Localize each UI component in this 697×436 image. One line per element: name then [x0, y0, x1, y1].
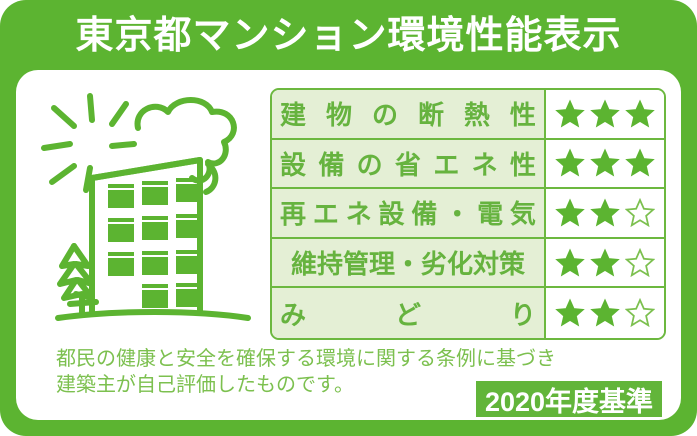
building-sun-cloud-tree-illustration [30, 82, 276, 344]
label-char: 設 [280, 145, 306, 182]
label-char: 再 [280, 194, 306, 231]
star-filled-icon [590, 198, 620, 228]
label-char: 建 [280, 95, 306, 132]
label-char: 電 [477, 194, 503, 231]
star-filled-icon [590, 148, 620, 178]
rating-label-insulation: 建 物 の 断 熱 性 [272, 90, 546, 138]
label-char: 省 [395, 145, 421, 182]
table-row: 設 備 の 省 エ ネ 性 [272, 140, 664, 190]
label-char: 断 [418, 95, 444, 132]
rating-stars-energy-saving [546, 140, 664, 188]
star-filled-icon [590, 248, 620, 278]
label-char: 設 [379, 194, 405, 231]
star-filled-icon [555, 198, 585, 228]
star-filled-icon [555, 248, 585, 278]
header-bar: 東京都マンション環境性能表示 [0, 0, 697, 72]
label-char: ・ [444, 194, 470, 231]
label-char: 気 [510, 194, 536, 231]
label-char: の [357, 145, 383, 182]
rating-stars-greenery [546, 288, 664, 338]
rating-label-energy-saving: 設 備 の 省 エ ネ 性 [272, 140, 546, 188]
label-char: ネ [346, 194, 372, 231]
star-outline-icon [625, 198, 655, 228]
ratings-table: 建 物 の 断 熱 性 設 備 の 省 [270, 88, 666, 340]
label-char: の [372, 95, 398, 132]
star-filled-icon [555, 99, 585, 129]
star-filled-icon [590, 298, 620, 328]
star-filled-icon [625, 148, 655, 178]
rating-stars-insulation [546, 90, 664, 138]
environmental-performance-label: 東京都マンション環境性能表示 [0, 0, 697, 436]
label-char: 物 [326, 95, 352, 132]
rating-stars-maintenance-durability [546, 239, 664, 287]
star-filled-icon [555, 298, 585, 328]
label-char: ネ [472, 145, 498, 182]
label-char: み [280, 295, 306, 332]
table-row: 建 物 の 断 熱 性 [272, 90, 664, 140]
star-outline-icon [625, 298, 655, 328]
label-char: ど [395, 295, 421, 332]
rating-label-renewable-energy: 再 エ ネ 設 備 ・ 電 気 [272, 189, 546, 237]
table-row: み ど り [272, 288, 664, 338]
label-char: エ [433, 145, 459, 182]
table-row: 再 エ ネ 設 備 ・ 電 気 [272, 189, 664, 239]
content-panel: 建 物 の 断 熱 性 設 備 の 省 [16, 70, 681, 420]
label-char: 備 [318, 145, 344, 182]
rating-label-greenery: み ど り [272, 288, 546, 338]
label-char: 性 [510, 95, 536, 132]
page-title: 東京都マンション環境性能表示 [75, 17, 621, 55]
star-filled-icon [590, 99, 620, 129]
footer-line-1: 都民の健康と安全を確保する環境に関する条例に基づき [56, 346, 556, 372]
label-char: り [510, 295, 536, 332]
rating-label-maintenance-durability: 維持管理・劣化対策 [272, 239, 546, 287]
star-filled-icon [555, 148, 585, 178]
label-char: エ [313, 194, 339, 231]
star-filled-icon [625, 99, 655, 129]
label-char: 熱 [464, 95, 490, 132]
standard-year-badge: 2020年度基準 [476, 381, 662, 417]
table-row: 維持管理・劣化対策 [272, 239, 664, 289]
label-char: 性 [510, 145, 536, 182]
star-outline-icon [625, 248, 655, 278]
label-char: 備 [411, 194, 437, 231]
rating-stars-renewable-energy [546, 189, 664, 237]
